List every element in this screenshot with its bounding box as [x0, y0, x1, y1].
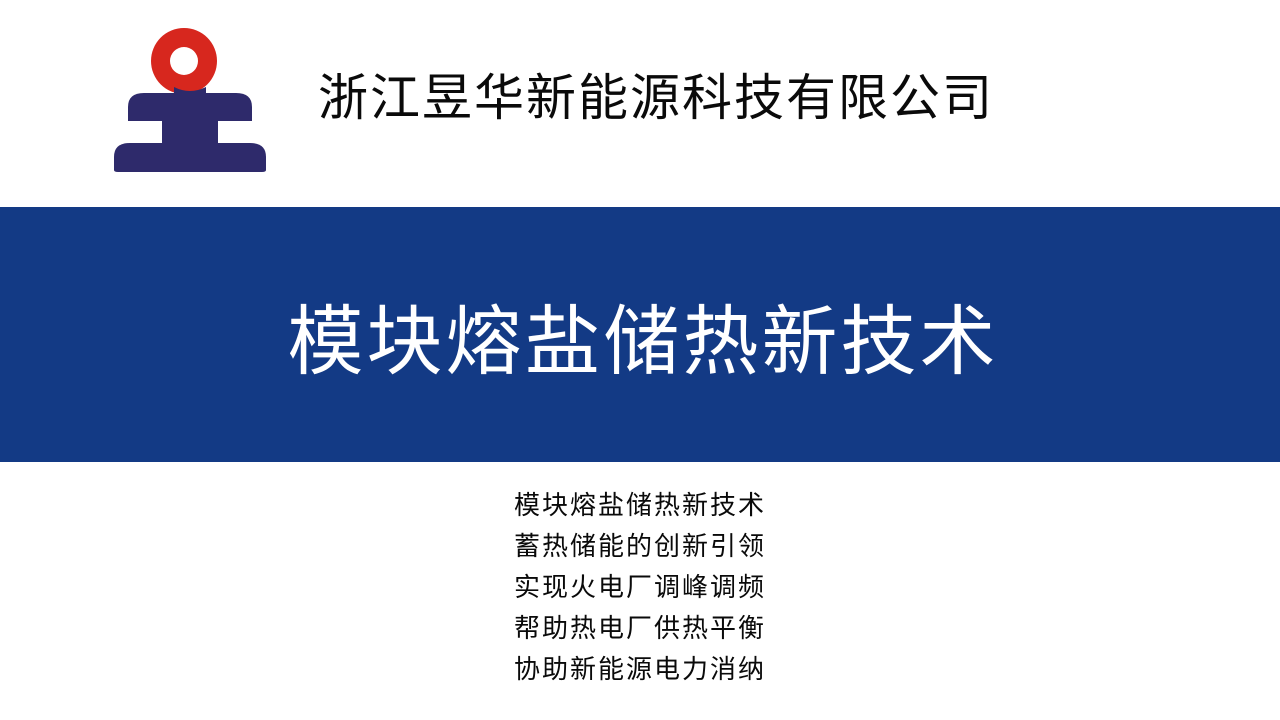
subtitle-line: 实现火电厂调峰调频 [0, 568, 1280, 609]
title-banner: 模块熔盐储热新技术 [0, 207, 1280, 462]
subtitle-line: 蓄热储能的创新引领 [0, 527, 1280, 568]
company-name: 浙江昱华新能源科技有限公司 [318, 68, 1018, 128]
presentation-slide: 浙江昱华新能源科技有限公司 模块熔盐储热新技术 模块熔盐储热新技术 蓄热储能的创… [0, 0, 1280, 720]
subtitle-line: 模块熔盐储热新技术 [0, 486, 1280, 527]
subtitle-list: 模块熔盐储热新技术 蓄热储能的创新引领 实现火电厂调峰调频 帮助热电厂供热平衡 … [0, 486, 1280, 691]
subtitle-line: 协助新能源电力消纳 [0, 650, 1280, 691]
company-logo-icon [110, 25, 270, 175]
page-title: 模块熔盐储热新技术 [0, 207, 1280, 462]
subtitle-line: 帮助热电厂供热平衡 [0, 609, 1280, 650]
slide-header: 浙江昱华新能源科技有限公司 [0, 0, 1280, 207]
